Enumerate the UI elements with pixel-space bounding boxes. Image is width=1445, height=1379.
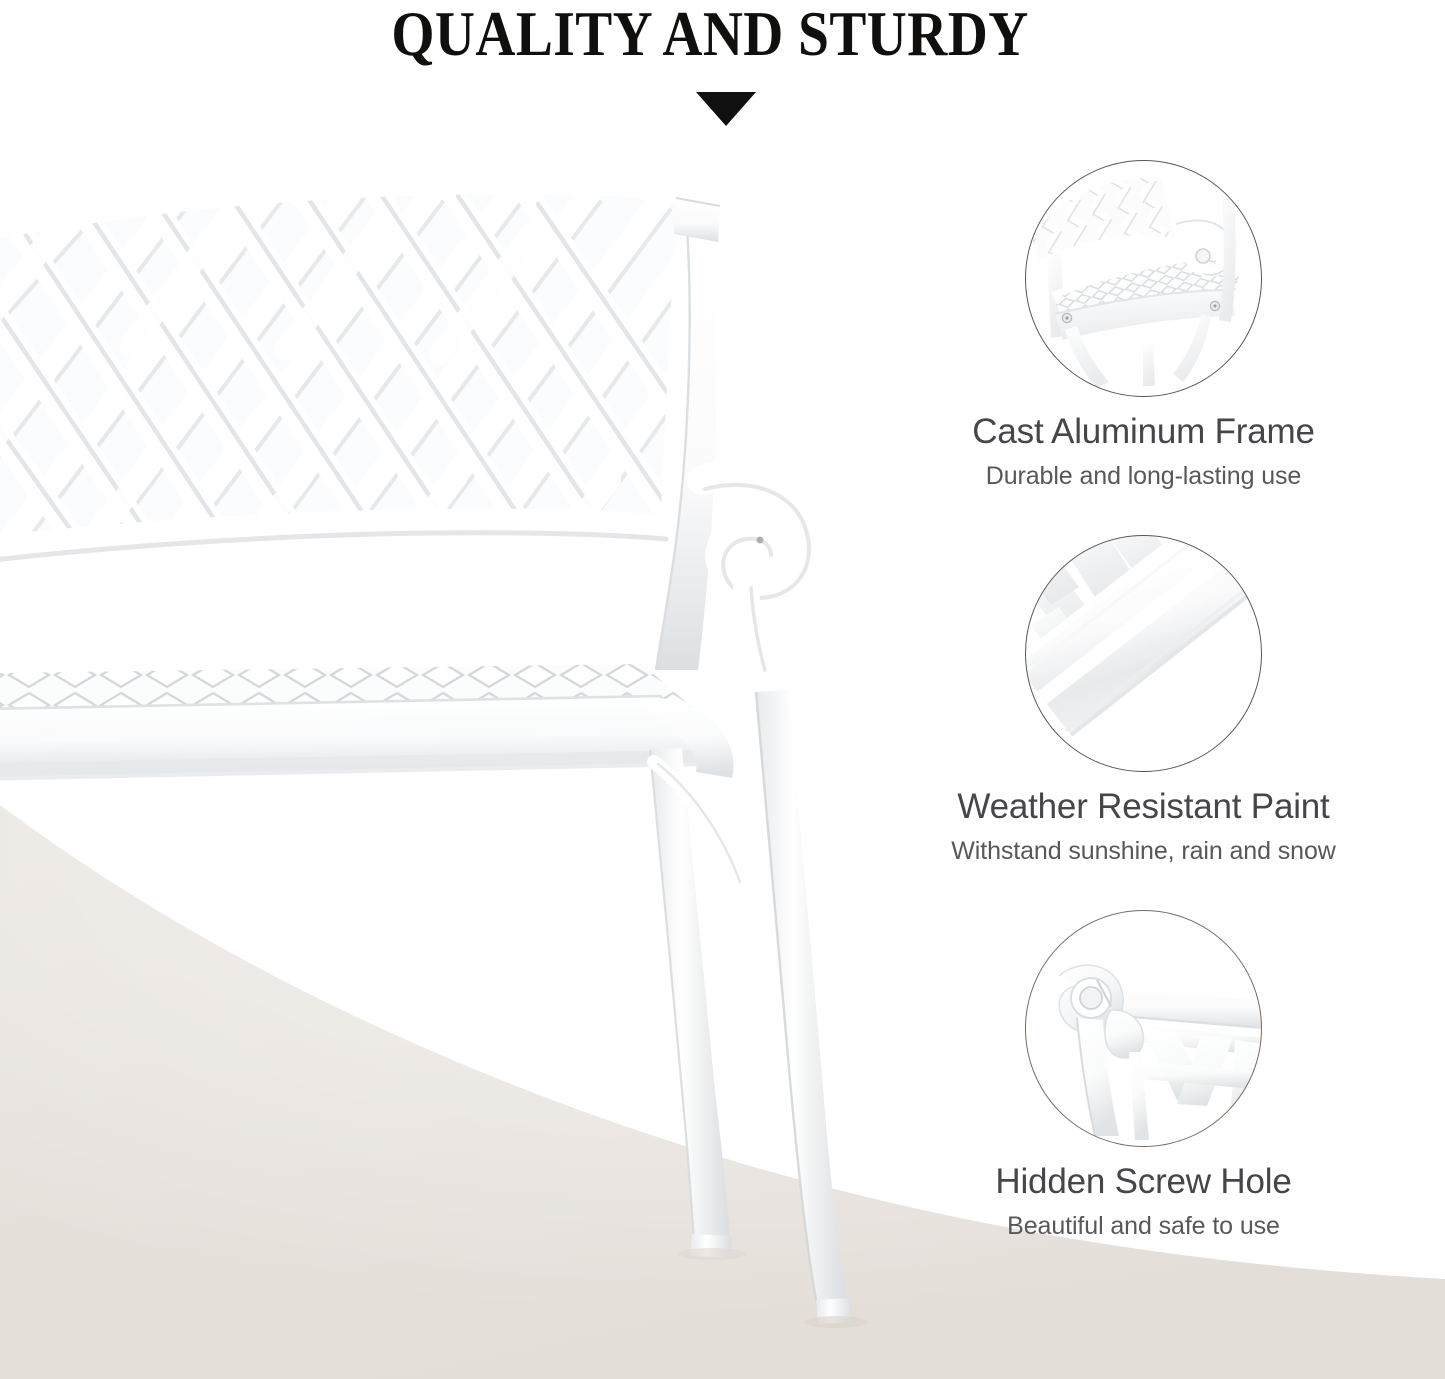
feature-list: Cast Aluminum Frame Durable and long-las…: [905, 150, 1405, 1275]
feature-subtitle: Withstand sunshine, rain and snow: [905, 837, 1382, 866]
feature-item-hidden-screw-hole: Hidden Screw Hole Beautiful and safe to …: [905, 900, 1405, 1275]
feature-title: Weather Resistant Paint: [905, 787, 1382, 827]
feature-photo-hidden-screw-hole: [1025, 910, 1262, 1147]
feature-photo-weather-resistant-paint: [1025, 535, 1262, 772]
triangle-down-icon: [696, 92, 756, 126]
page-title: QUALITY AND STURDY: [376, 0, 1045, 71]
feature-photo-cast-aluminum-frame: [1025, 160, 1262, 397]
product-photo-bench: [0, 150, 920, 1350]
feature-subtitle: Beautiful and safe to use: [905, 1212, 1382, 1241]
feature-item-weather-resistant-paint: Weather Resistant Paint Withstand sunshi…: [905, 525, 1405, 900]
feature-subtitle: Durable and long-lasting use: [905, 462, 1382, 491]
feature-title: Hidden Screw Hole: [905, 1162, 1382, 1202]
screw-hole-dot: [757, 537, 764, 544]
marketing-image-canvas: QUALITY AND STURDY: [0, 0, 1445, 1379]
feature-item-cast-aluminum-frame: Cast Aluminum Frame Durable and long-las…: [905, 150, 1405, 525]
feature-title: Cast Aluminum Frame: [905, 412, 1382, 452]
